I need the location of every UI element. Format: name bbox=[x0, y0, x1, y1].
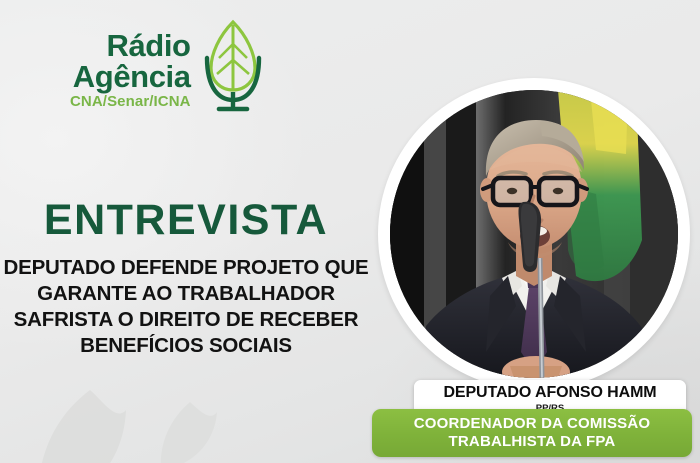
leaf-watermark-right bbox=[155, 400, 225, 463]
brand-line-3: CNA/Senar/ICNA bbox=[70, 95, 191, 109]
portrait-photo bbox=[390, 90, 678, 378]
brand-line-2: Agência bbox=[73, 63, 191, 92]
brand-logo: Rádio Agência CNA/Senar/ICNA bbox=[70, 22, 265, 119]
brand-logo-text: Rádio Agência CNA/Senar/ICNA bbox=[70, 32, 191, 109]
headline-title: DEPUTADO DEFENDE PROJETO QUE GARANTE AO … bbox=[0, 255, 372, 359]
speaker-role-line-1: COORDENADOR DA COMISSÃO bbox=[414, 415, 651, 433]
leaf-microphone-icon bbox=[201, 18, 265, 119]
interview-poster: Rádio Agência CNA/Senar/ICNA bbox=[0, 0, 700, 463]
leaf-watermark-left bbox=[28, 388, 158, 463]
brand-line-1: Rádio bbox=[106, 32, 190, 61]
speaker-role-bar: COORDENADOR DA COMISSÃO TRABALHISTA DA F… bbox=[372, 409, 692, 457]
speaker-role-line-2: TRABALHISTA DA FPA bbox=[449, 433, 616, 451]
speaker-name: DEPUTADO AFONSO HAMM bbox=[414, 380, 686, 402]
kicker-entrevista: ENTREVISTA bbox=[0, 196, 372, 245]
